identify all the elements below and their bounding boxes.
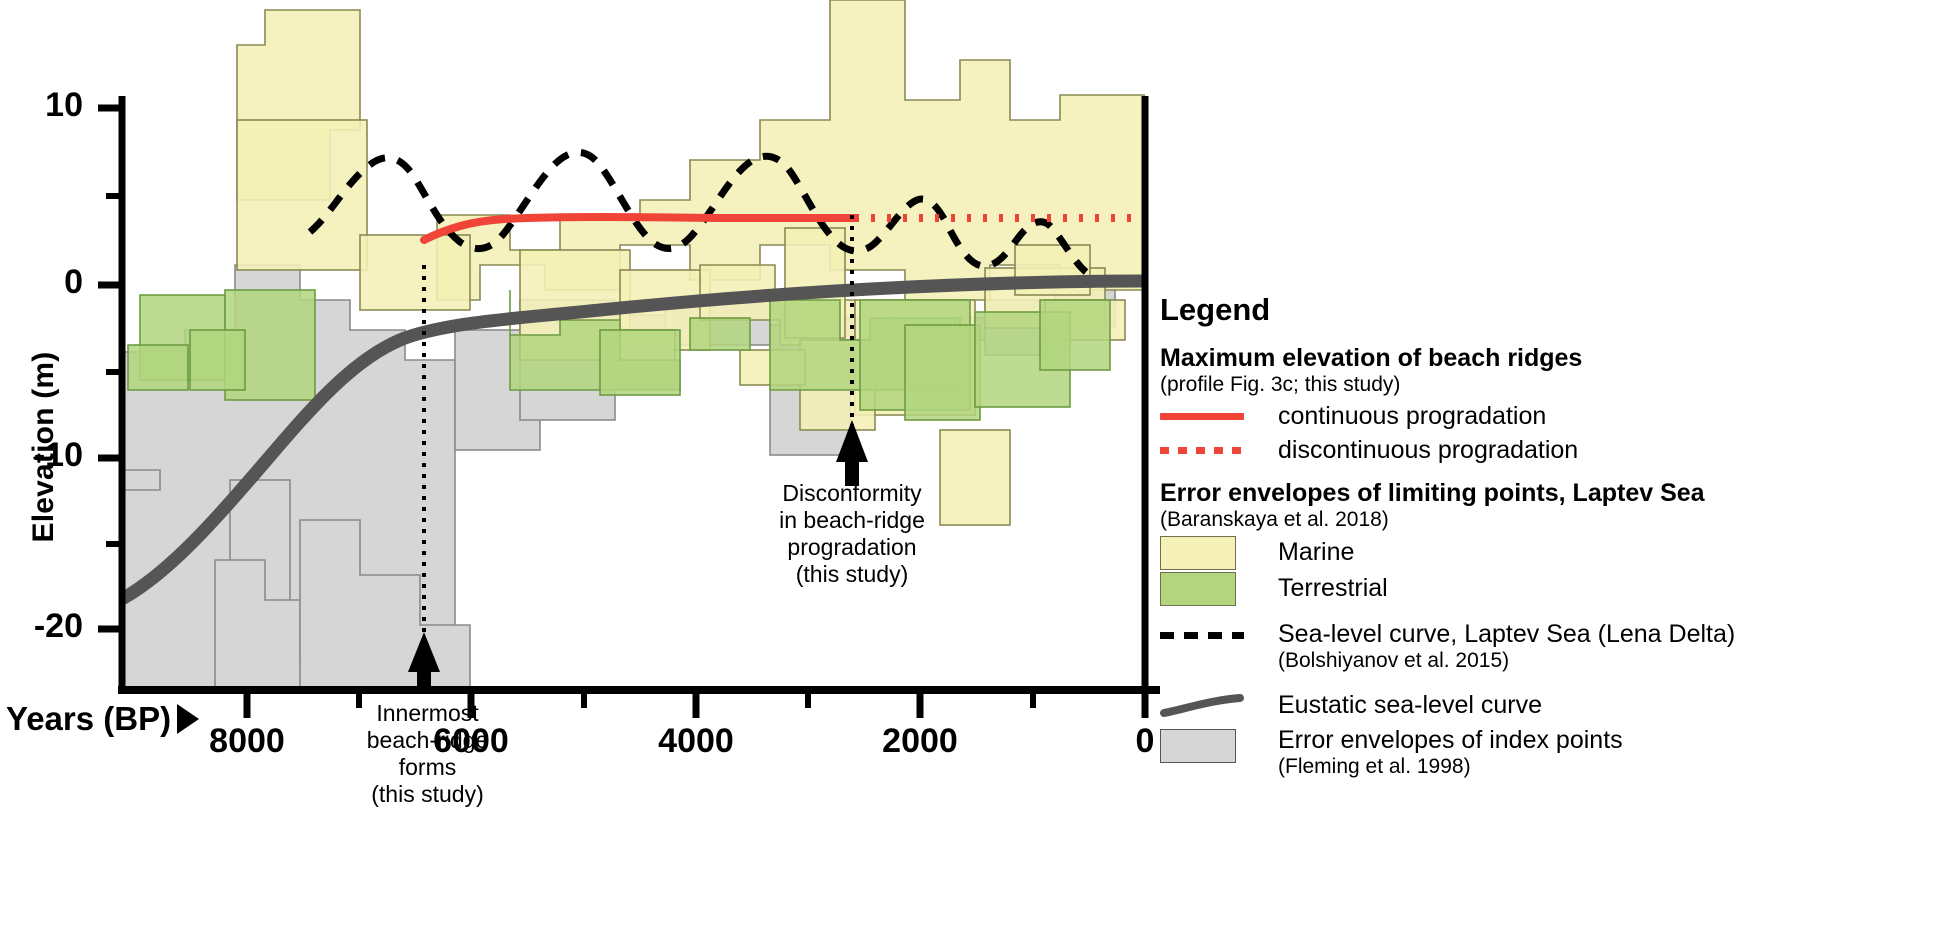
right-arrow-icon <box>177 704 199 734</box>
annotation-disconformity-line1: Disconformity <box>757 480 947 507</box>
legend-item-sealevel-curve-sub: (Bolshiyanov et al. 2015) <box>1278 649 1735 673</box>
legend-group-2-heading: Error envelopes of limiting points, Lapt… <box>1160 479 1955 508</box>
legend-title: Legend <box>1160 292 1955 328</box>
annotation-disconformity-line3: progradation <box>757 534 947 561</box>
annotation-innermost: Innermost beach-ridge forms (this study) <box>355 700 500 809</box>
x-tick-2000: 2000 <box>840 722 1000 761</box>
legend-group-1-heading: Maximum elevation of beach ridges <box>1160 344 1955 373</box>
legend-item-continuous-progradation-label: continuous progradation <box>1278 402 1546 431</box>
annotation-innermost-line2: beach-ridge <box>355 727 500 754</box>
marine-swatch-icon <box>1160 536 1278 570</box>
eustatic-curve-icon <box>1160 693 1278 717</box>
annotation-innermost-line3: forms <box>355 754 500 781</box>
legend-item-index-points-label: Error envelopes of index points <box>1278 726 1623 754</box>
terrestrial-swatch-icon <box>1160 572 1278 606</box>
y-tick--20: -20 <box>0 607 83 646</box>
legend-item-terrestrial[interactable]: Terrestrial <box>1160 572 1955 606</box>
index-points-swatch-icon <box>1160 726 1278 763</box>
legend-item-discontinuous-progradation[interactable]: discontinuous progradation <box>1160 436 1955 465</box>
legend-group-1-subheading: (profile Fig. 3c; this study) <box>1160 373 1955 397</box>
annotation-innermost-line4: (this study) <box>355 781 500 808</box>
figure-root: 10 0 -10 -20 Elevation (m) 8000 6000 400… <box>0 0 1955 936</box>
legend-item-continuous-progradation[interactable]: continuous progradation <box>1160 402 1955 431</box>
legend-item-sealevel-curve[interactable]: Sea-level curve, Laptev Sea (Lena Delta)… <box>1160 620 1955 677</box>
legend-item-eustatic-curve[interactable]: Eustatic sea-level curve <box>1160 691 1955 720</box>
x-tick-4000: 4000 <box>616 722 776 761</box>
legend-group-2-subheading: (Baranskaya et al. 2018) <box>1160 508 1955 532</box>
x-axis-title-text: Years (BP) <box>6 700 171 738</box>
legend-item-eustatic-curve-label: Eustatic sea-level curve <box>1278 691 1542 720</box>
annotation-disconformity-line2: in beach-ridge <box>757 507 947 534</box>
black-dashed-line-icon <box>1160 620 1278 639</box>
y-tick-0: 0 <box>0 263 83 302</box>
legend-item-terrestrial-label: Terrestrial <box>1278 574 1388 603</box>
red-dotted-line-icon <box>1160 447 1278 454</box>
legend: Legend Maximum elevation of beach ridges… <box>1160 292 1955 788</box>
y-tick-10: 10 <box>0 86 83 125</box>
legend-item-index-points-sub: (Fleming et al. 1998) <box>1278 755 1623 779</box>
red-solid-line-icon <box>1160 413 1278 420</box>
annotation-disconformity-line4: (this study) <box>757 561 947 588</box>
legend-item-sealevel-curve-label: Sea-level curve, Laptev Sea (Lena Delta) <box>1278 620 1735 648</box>
x-axis-title: Years (BP) <box>6 700 199 738</box>
y-axis-title: Elevation (m) <box>27 307 61 587</box>
legend-item-marine[interactable]: Marine <box>1160 536 1955 570</box>
legend-item-marine-label: Marine <box>1278 538 1354 567</box>
annotation-disconformity: Disconformity in beach-ridge progradatio… <box>757 480 947 589</box>
legend-item-discontinuous-progradation-label: discontinuous progradation <box>1278 436 1578 465</box>
annotation-innermost-line1: Innermost <box>355 700 500 727</box>
legend-item-index-points[interactable]: Error envelopes of index points (Fleming… <box>1160 726 1955 783</box>
